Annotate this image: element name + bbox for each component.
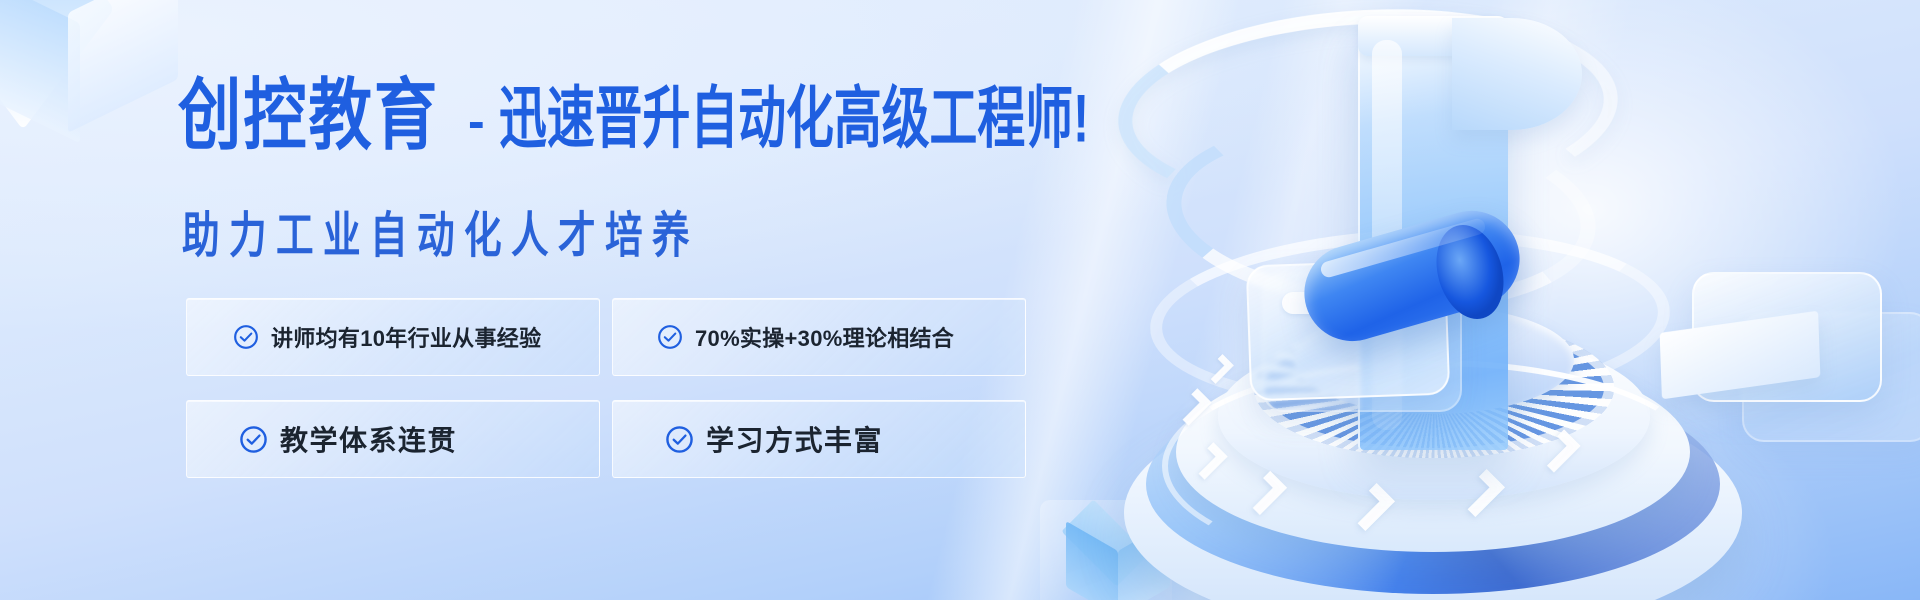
feature-item-1: 讲师均有10年行业从事经验 xyxy=(186,298,600,376)
headline-tagline: 迅速晋升自动化高级工程师! xyxy=(499,85,1089,153)
sub-headline: 助力工业自动化人才培养 xyxy=(182,196,699,267)
chevron-arrow-icon xyxy=(1243,471,1287,515)
check-circle-icon xyxy=(657,324,683,350)
chevron-arrow-icon xyxy=(1204,354,1234,384)
glass-slab-fold xyxy=(1452,18,1582,130)
chevron-arrow-icon xyxy=(1537,429,1580,472)
feature-item-4: 学习方式丰富 xyxy=(612,400,1026,478)
check-circle-icon xyxy=(233,324,259,350)
feature-label: 教学体系连贯 xyxy=(280,419,457,459)
chevron-arrow-icon xyxy=(1457,469,1505,517)
headline-separator: - xyxy=(468,92,485,150)
feature-item-3: 教学体系连贯 xyxy=(186,400,600,478)
chevron-arrow-icon xyxy=(1190,442,1228,480)
feature-label: 学习方式丰富 xyxy=(706,419,883,459)
feature-label: 70%实操+30%理论相结合 xyxy=(695,321,954,353)
check-circle-icon xyxy=(239,425,268,454)
promo-banner: 创控教育 - 迅速晋升自动化高级工程师! 助力工业自动化人才培养 讲师均有10年… xyxy=(0,0,1920,600)
feature-label: 讲师均有10年行业从事经验 xyxy=(271,321,541,353)
feature-list: 讲师均有10年行业从事经验 70%实操+30%理论相结合 xyxy=(186,298,1026,478)
brand-name: 创控教育 xyxy=(178,76,439,154)
feature-item-2: 70%实操+30%理论相结合 xyxy=(612,298,1026,376)
headline: 创控教育 - 迅速晋升自动化高级工程师! xyxy=(178,88,1140,156)
banner-content: 创控教育 - 迅速晋升自动化高级工程师! 助力工业自动化人才培养 讲师均有10年… xyxy=(0,0,1060,600)
chevron-arrow-icon xyxy=(1174,388,1212,426)
chevron-arrow-icon xyxy=(1347,483,1395,531)
check-circle-icon xyxy=(665,425,694,454)
